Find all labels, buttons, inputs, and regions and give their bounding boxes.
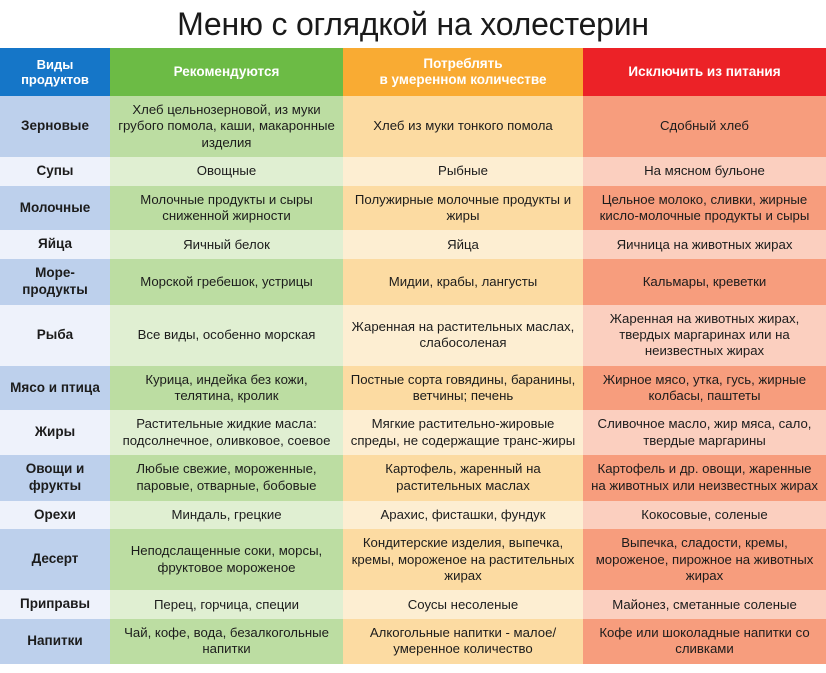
cell-exclude: Майонез, сметанные соленые [583, 590, 826, 619]
row-label-cell: Зерновые [0, 96, 110, 157]
table-row: Море-продуктыМорской гребешок, устрицыМи… [0, 259, 826, 304]
cholesterol-menu-table: Виды продуктов Рекомендуются Потреблять … [0, 48, 826, 664]
cell-recommended: Хлеб цельнозерновой, из муки грубого пом… [110, 96, 343, 157]
row-label-cell: Орехи [0, 501, 110, 530]
cell-moderate: Полужирные молочные продукты и жиры [343, 186, 583, 231]
row-label-cell: Приправы [0, 590, 110, 619]
cell-moderate: Яйца [343, 230, 583, 259]
cell-exclude: Жаренная на животных жирах, твердых марг… [583, 305, 826, 366]
cell-exclude: Кальмары, креветки [583, 259, 826, 304]
row-label-cell: Море-продукты [0, 259, 110, 304]
table-row: СупыОвощныеРыбныеНа мясном бульоне [0, 157, 826, 186]
cell-moderate: Алкогольные напитки - малое/ умеренное к… [343, 619, 583, 664]
cell-recommended: Курица, индейка без кожи, телятина, крол… [110, 366, 343, 411]
header-moderate-line-1: Потреблять [349, 56, 577, 72]
cell-exclude: Сдобный хлеб [583, 96, 826, 157]
cell-recommended: Любые свежие, мороженные, паровые, отвар… [110, 455, 343, 500]
cholesterol-menu-infographic: Меню с оглядкой на холестерин Виды проду… [0, 0, 826, 673]
page-title-bar: Меню с оглядкой на холестерин [0, 0, 826, 48]
row-label-cell: Овощи и фрукты [0, 455, 110, 500]
table-row: НапиткиЧай, кофе, вода, безалкогольные н… [0, 619, 826, 664]
cell-exclude: Кокосовые, соленые [583, 501, 826, 530]
cell-exclude: Сливочное масло, жир мяса, сало, твердые… [583, 410, 826, 455]
header-moderate-line-2: в умеренном количестве [349, 72, 577, 88]
row-label-cell: Десерт [0, 529, 110, 590]
row-label-cell: Молочные [0, 186, 110, 231]
table-row: ЗерновыеХлеб цельнозерновой, из муки гру… [0, 96, 826, 157]
cell-exclude: Цельное молоко, сливки, жирные кисло-мол… [583, 186, 826, 231]
cell-exclude: Жирное мясо, утка, гусь, жирные колбасы,… [583, 366, 826, 411]
cell-moderate: Мидии, крабы, лангусты [343, 259, 583, 304]
cell-exclude: На мясном бульоне [583, 157, 826, 186]
table-row: РыбаВсе виды, особенно морскаяЖаренная н… [0, 305, 826, 366]
column-header-exclude: Исключить из питания [583, 48, 826, 96]
page-title: Меню с оглядкой на холестерин [177, 8, 649, 40]
column-header-moderate: Потреблять в умеренном количестве [343, 48, 583, 96]
row-label-cell: Напитки [0, 619, 110, 664]
cell-recommended: Овощные [110, 157, 343, 186]
cell-recommended: Растительные жидкие масла: подсолнечное,… [110, 410, 343, 455]
table-header: Виды продуктов Рекомендуются Потреблять … [0, 48, 826, 96]
header-label-line-1: Виды [6, 57, 104, 72]
table-row: ПриправыПерец, горчица, специиСоусы несо… [0, 590, 826, 619]
table-body: ЗерновыеХлеб цельнозерновой, из муки гру… [0, 96, 826, 664]
cell-moderate: Кондитерские изделия, выпечка, кремы, мо… [343, 529, 583, 590]
cell-recommended: Молочные продукты и сыры сниженной жирно… [110, 186, 343, 231]
column-header-recommended: Рекомендуются [110, 48, 343, 96]
row-label-cell: Яйца [0, 230, 110, 259]
cell-moderate: Мягкие растительно-жировые спреды, не со… [343, 410, 583, 455]
cell-moderate: Жаренная на растительных маслах, слабосо… [343, 305, 583, 366]
header-row: Виды продуктов Рекомендуются Потреблять … [0, 48, 826, 96]
cell-exclude: Кофе или шоколадные напитки со сливками [583, 619, 826, 664]
column-header-product-types: Виды продуктов [0, 48, 110, 96]
cell-exclude: Картофель и др. овощи, жаренные на живот… [583, 455, 826, 500]
row-label-cell: Жиры [0, 410, 110, 455]
cell-recommended: Все виды, особенно морская [110, 305, 343, 366]
cell-moderate: Картофель, жаренный на растительных масл… [343, 455, 583, 500]
cell-moderate: Хлеб из муки тонкого помола [343, 96, 583, 157]
table-row: ДесертНеподслащенные соки, морсы, фрукто… [0, 529, 826, 590]
cell-recommended: Миндаль, грецкие [110, 501, 343, 530]
table-row: Мясо и птицаКурица, индейка без кожи, те… [0, 366, 826, 411]
table-row: ОрехиМиндаль, грецкиеАрахис, фисташки, ф… [0, 501, 826, 530]
table-row: Овощи и фруктыЛюбые свежие, мороженные, … [0, 455, 826, 500]
cell-moderate: Арахис, фисташки, фундук [343, 501, 583, 530]
cell-moderate: Рыбные [343, 157, 583, 186]
cell-moderate: Соусы несоленые [343, 590, 583, 619]
cell-exclude: Яичница на животных жирах [583, 230, 826, 259]
cell-recommended: Чай, кофе, вода, безалкогольные напитки [110, 619, 343, 664]
cell-exclude: Выпечка, сладости, кремы, мороженое, пир… [583, 529, 826, 590]
row-label-cell: Мясо и птица [0, 366, 110, 411]
cell-recommended: Морской гребешок, устрицы [110, 259, 343, 304]
cell-recommended: Неподслащенные соки, морсы, фруктовое мо… [110, 529, 343, 590]
table-row: ЖирыРастительные жидкие масла: подсолнеч… [0, 410, 826, 455]
header-label-line-2: продуктов [6, 72, 104, 87]
cell-recommended: Перец, горчица, специи [110, 590, 343, 619]
cell-moderate: Постные сорта говядины, баранины, ветчин… [343, 366, 583, 411]
row-label-cell: Супы [0, 157, 110, 186]
table-row: ЯйцаЯичный белокЯйцаЯичница на животных … [0, 230, 826, 259]
row-label-cell: Рыба [0, 305, 110, 366]
table-row: МолочныеМолочные продукты и сыры сниженн… [0, 186, 826, 231]
cell-recommended: Яичный белок [110, 230, 343, 259]
